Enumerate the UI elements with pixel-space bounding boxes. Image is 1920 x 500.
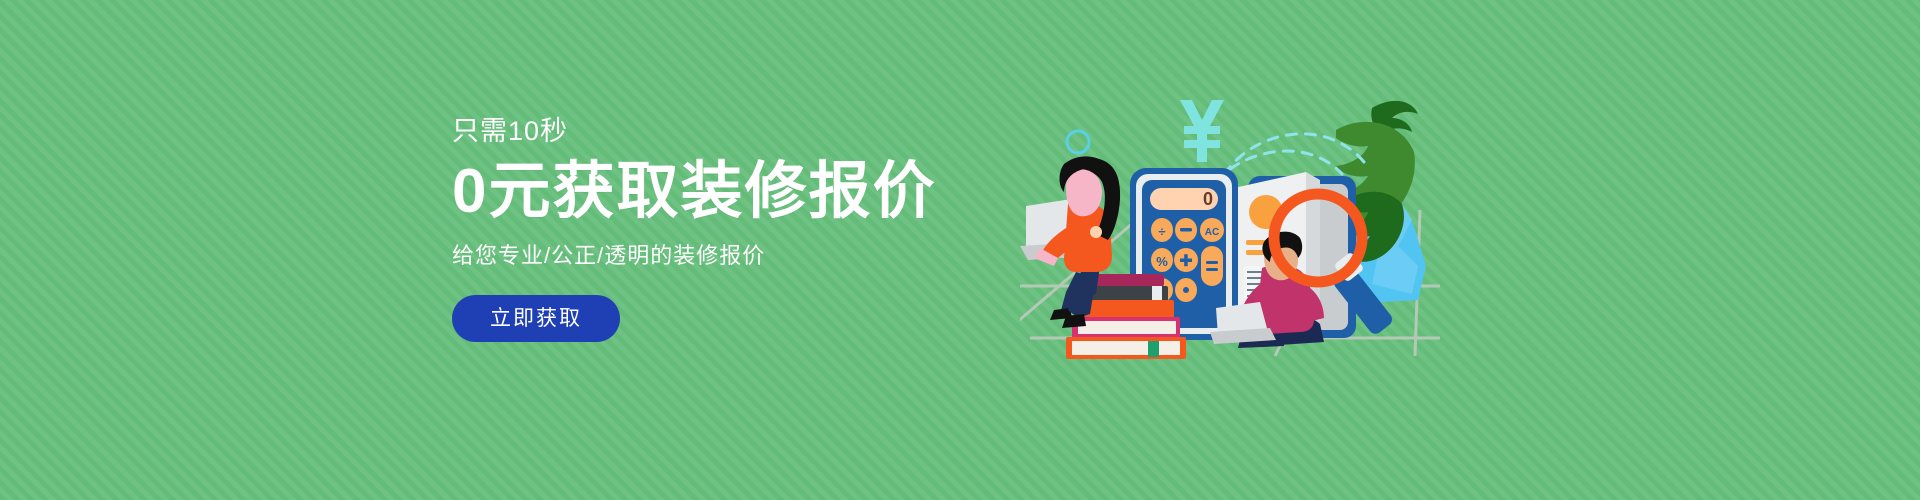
banner-copy: 只需10秒 0元获取装修报价 给您专业/公正/透明的装修报价 立即获取	[452, 118, 1072, 342]
svg-text:0: 0	[1203, 189, 1213, 209]
subline-text: 给您专业/公正/透明的装修报价	[452, 245, 1072, 267]
accent-circle-icon	[1067, 131, 1089, 153]
svg-text:AC: AC	[1205, 227, 1219, 238]
headline-text: 0元获取装修报价	[452, 161, 1072, 223]
promo-banner: 只需10秒 0元获取装修报价 给您专业/公正/透明的装修报价 立即获取	[0, 0, 1920, 500]
get-quote-button[interactable]: 立即获取	[452, 295, 620, 342]
svg-text:÷: ÷	[1158, 224, 1165, 239]
eyebrow-text: 只需10秒	[452, 118, 1072, 145]
hero-illustration: 0 ÷ AC %	[1020, 70, 1440, 390]
yen-symbol-icon	[1180, 100, 1224, 162]
svg-text:%: %	[1156, 254, 1168, 269]
